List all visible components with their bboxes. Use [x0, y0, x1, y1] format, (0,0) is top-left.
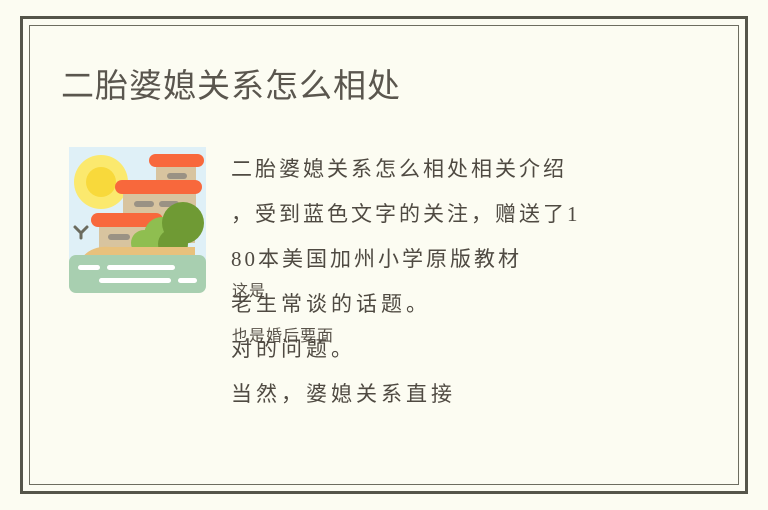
building-front-window [108, 234, 130, 240]
body-line-1-text: 二胎婆媳关系怎么相处相关介绍 [231, 153, 567, 183]
building-mid-roof [115, 180, 202, 194]
flat-landscape-illustration [61, 141, 214, 296]
water-line-2b [178, 278, 197, 283]
body-line-6-text: 当然，婆媳关系直接 [231, 378, 456, 408]
building-back-roof [149, 154, 204, 167]
water-line-1b [107, 265, 175, 270]
body-line-5: 也是婚后要面 对的问题。 [231, 325, 691, 370]
body-line-6: 当然，婆媳关系直接 [231, 370, 691, 415]
article-body: 二胎婆媳关系怎么相处相关介绍 ，受到蓝色文字的关注，赠送了1 80本美国加州小学… [231, 145, 691, 415]
article-card-page: 二胎婆媳关系怎么相处 [0, 0, 768, 510]
body-line-2: ，受到蓝色文字的关注，赠送了1 [231, 190, 691, 235]
water-line-2a [99, 278, 171, 283]
body-line-3-text: 80本美国加州小学原版教材 [231, 243, 522, 273]
water-panel [69, 255, 206, 293]
building-back-window [167, 173, 187, 179]
body-line-4: 这是 老生常谈的话题。 [231, 280, 691, 325]
body-line-5-text: 对的问题。 [231, 333, 356, 363]
sun-core-icon [86, 167, 116, 197]
water-line-1a [78, 265, 100, 270]
card-content: 二胎婆媳关系怎么相处 [29, 25, 739, 485]
page-title: 二胎婆媳关系怎么相处 [61, 65, 401, 107]
body-line-1: 二胎婆媳关系怎么相处相关介绍 [231, 145, 691, 190]
body-line-2-text: ，受到蓝色文字的关注，赠送了1 [231, 198, 581, 228]
building-mid-window-left [134, 201, 154, 207]
body-line-3: 80本美国加州小学原版教材 [231, 235, 691, 280]
body-line-4-text: 老生常谈的话题。 [231, 288, 431, 318]
